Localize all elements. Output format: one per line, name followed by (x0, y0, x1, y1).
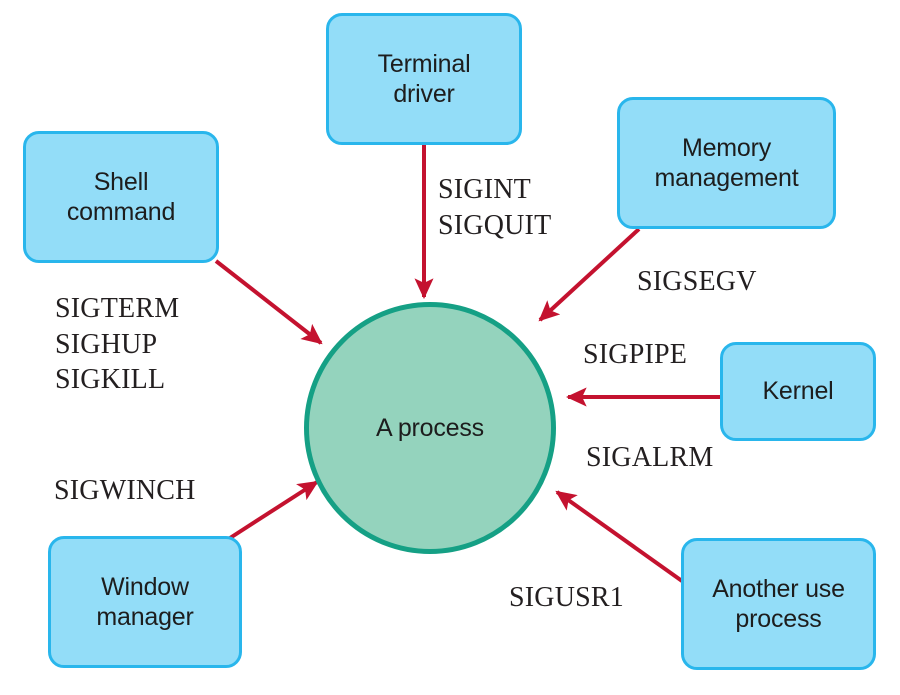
signal-label-memory: SIGSEGV (637, 264, 757, 300)
signal-diagram: A process Shellcommand Terminaldriver Me… (0, 0, 900, 695)
node-another-use-process[interactable]: Another useprocess (681, 538, 876, 670)
signal-label-user-process: SIGUSR1 (509, 580, 624, 616)
signal-label-kernel-alrm: SIGALRM (586, 440, 713, 476)
signal-sigterm: SIGTERM (55, 293, 179, 324)
signal-label-terminal: SIGINTSIGQUIT (438, 172, 551, 243)
node-terminal-driver-line1: Terminal (378, 50, 471, 78)
signal-label-window-manager: SIGWINCH (54, 473, 196, 509)
signal-sighup: SIGHUP (55, 329, 157, 360)
node-memory-management[interactable]: Memorymanagement (617, 97, 836, 229)
node-another-use-process-line2: process (735, 605, 821, 633)
node-another-use-process-line1: Another use (712, 575, 845, 603)
process-circle-label: A process (376, 414, 484, 443)
node-shell-command-label: Shellcommand (59, 167, 183, 228)
node-kernel[interactable]: Kernel (720, 342, 876, 441)
signal-sigpipe: SIGPIPE (583, 339, 687, 370)
node-window-manager[interactable]: Windowmanager (48, 536, 242, 668)
node-window-manager-label: Windowmanager (88, 572, 201, 633)
signal-sigquit: SIGQUIT (438, 210, 551, 241)
arrow-memory-to-process (540, 229, 639, 320)
node-shell-command-line2: command (67, 198, 175, 226)
signal-sigkill: SIGKILL (55, 364, 165, 395)
node-memory-management-line1: Memory (682, 134, 771, 162)
node-terminal-driver-line2: driver (393, 80, 454, 108)
node-shell-command-line1: Shell (94, 168, 149, 196)
signal-sigint: SIGINT (438, 174, 531, 205)
signal-sigsegv: SIGSEGV (637, 266, 757, 297)
signal-sigusr1: SIGUSR1 (509, 582, 624, 613)
signal-label-kernel-pipe: SIGPIPE (583, 337, 687, 373)
arrow-shell-to-process (216, 261, 321, 343)
arrow-user-process-to-process (557, 492, 682, 581)
arrow-window-manager-to-process (230, 482, 317, 538)
process-circle[interactable]: A process (304, 302, 556, 554)
node-kernel-label: Kernel (754, 376, 841, 407)
node-terminal-driver-label: Terminaldriver (370, 49, 479, 110)
node-another-use-process-label: Another useprocess (704, 574, 853, 635)
node-terminal-driver[interactable]: Terminaldriver (326, 13, 522, 145)
node-window-manager-line1: Window (101, 573, 189, 601)
node-shell-command[interactable]: Shellcommand (23, 131, 219, 263)
signal-sigalrm: SIGALRM (586, 442, 713, 473)
signal-sigwinch: SIGWINCH (54, 475, 196, 506)
signal-label-shell: SIGTERMSIGHUPSIGKILL (55, 291, 179, 398)
node-memory-management-label: Memorymanagement (647, 133, 807, 194)
node-window-manager-line2: manager (96, 603, 193, 631)
node-memory-management-line2: management (655, 164, 799, 192)
